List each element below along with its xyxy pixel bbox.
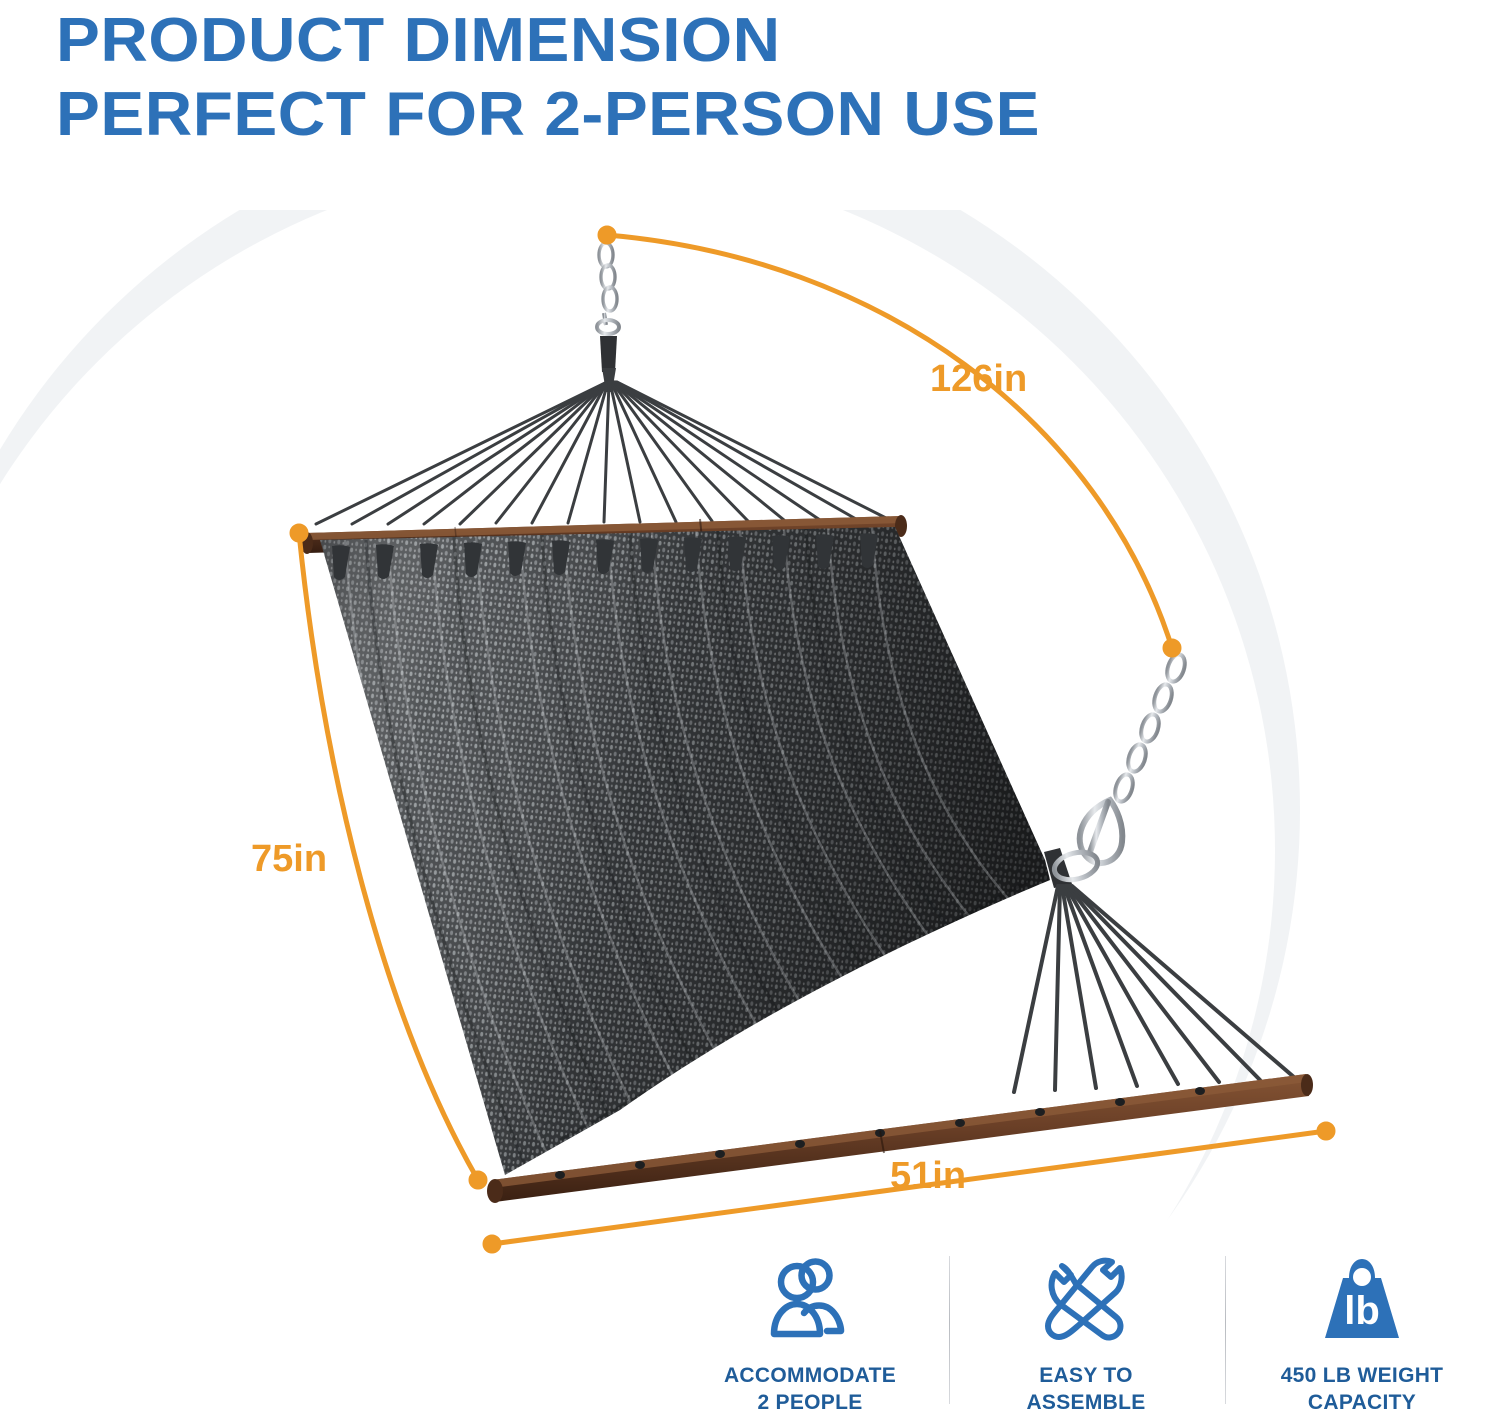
dimension-label-length: 126in xyxy=(930,358,1027,401)
dimension-endpoint-width-start xyxy=(483,1235,501,1253)
feature-weight-capacity: lb 450 LB WEIGHT CAPACITY xyxy=(1224,1250,1500,1416)
hammock-illustration xyxy=(0,0,1500,1417)
page-title: PRODUCT DIMENSION PERFECT FOR 2-PERSON U… xyxy=(56,4,1356,152)
foot-o-ring xyxy=(1052,848,1101,884)
rope-knot-row-top xyxy=(332,533,878,580)
foot-suspension-ropes xyxy=(1014,886,1295,1092)
feature-strip: ACCOMMODATE 2 PEOPLE EASY TO ASSEMBLE xyxy=(672,1250,1500,1417)
feature-easy-to-assemble: EASY TO ASSEMBLE xyxy=(948,1250,1224,1416)
foot-rope-gather xyxy=(1044,848,1072,888)
top-rope-gather xyxy=(600,336,617,372)
background-arc-decoration xyxy=(0,210,1500,1390)
dimension-label-width: 51in xyxy=(890,1155,966,1198)
dimension-label-height: 75in xyxy=(251,838,327,881)
feature-label-accommodate: ACCOMMODATE 2 PEOPLE xyxy=(724,1362,896,1416)
spreader-bar-top xyxy=(301,515,907,554)
dimension-endpoint-width-end xyxy=(1317,1122,1335,1140)
dimension-line-length xyxy=(607,235,1172,648)
feature-accommodate-2-people: ACCOMMODATE 2 PEOPLE xyxy=(672,1250,948,1416)
foot-chain xyxy=(1112,652,1188,804)
dimension-endpoint-length-start xyxy=(598,226,616,244)
dimension-endpoint-height-end xyxy=(469,1171,487,1189)
feature-label-weight: 450 LB WEIGHT CAPACITY xyxy=(1281,1362,1444,1416)
page-title-line-2: PERFECT FOR 2-PERSON USE xyxy=(56,78,1434,152)
two-people-icon xyxy=(764,1254,856,1346)
feature-label-assemble: EASY TO ASSEMBLE xyxy=(1026,1362,1145,1416)
product-dimension-infographic: PRODUCT DIMENSION PERFECT FOR 2-PERSON U… xyxy=(0,0,1500,1417)
weight-lb-icon: lb xyxy=(1319,1254,1405,1346)
top-chain xyxy=(597,243,619,334)
page-title-line-1: PRODUCT DIMENSION xyxy=(56,4,1434,78)
wrench-screwdriver-icon xyxy=(1040,1254,1132,1346)
carabiner-hook xyxy=(1080,800,1123,863)
svg-text:lb: lb xyxy=(1344,1289,1380,1333)
dimension-endpoint-length-end xyxy=(1163,639,1181,657)
dimension-lines xyxy=(290,226,1335,1253)
woven-rope-bed xyxy=(300,500,1080,1200)
top-suspension-ropes xyxy=(316,382,888,524)
dimension-endpoint-height-start xyxy=(290,524,308,542)
